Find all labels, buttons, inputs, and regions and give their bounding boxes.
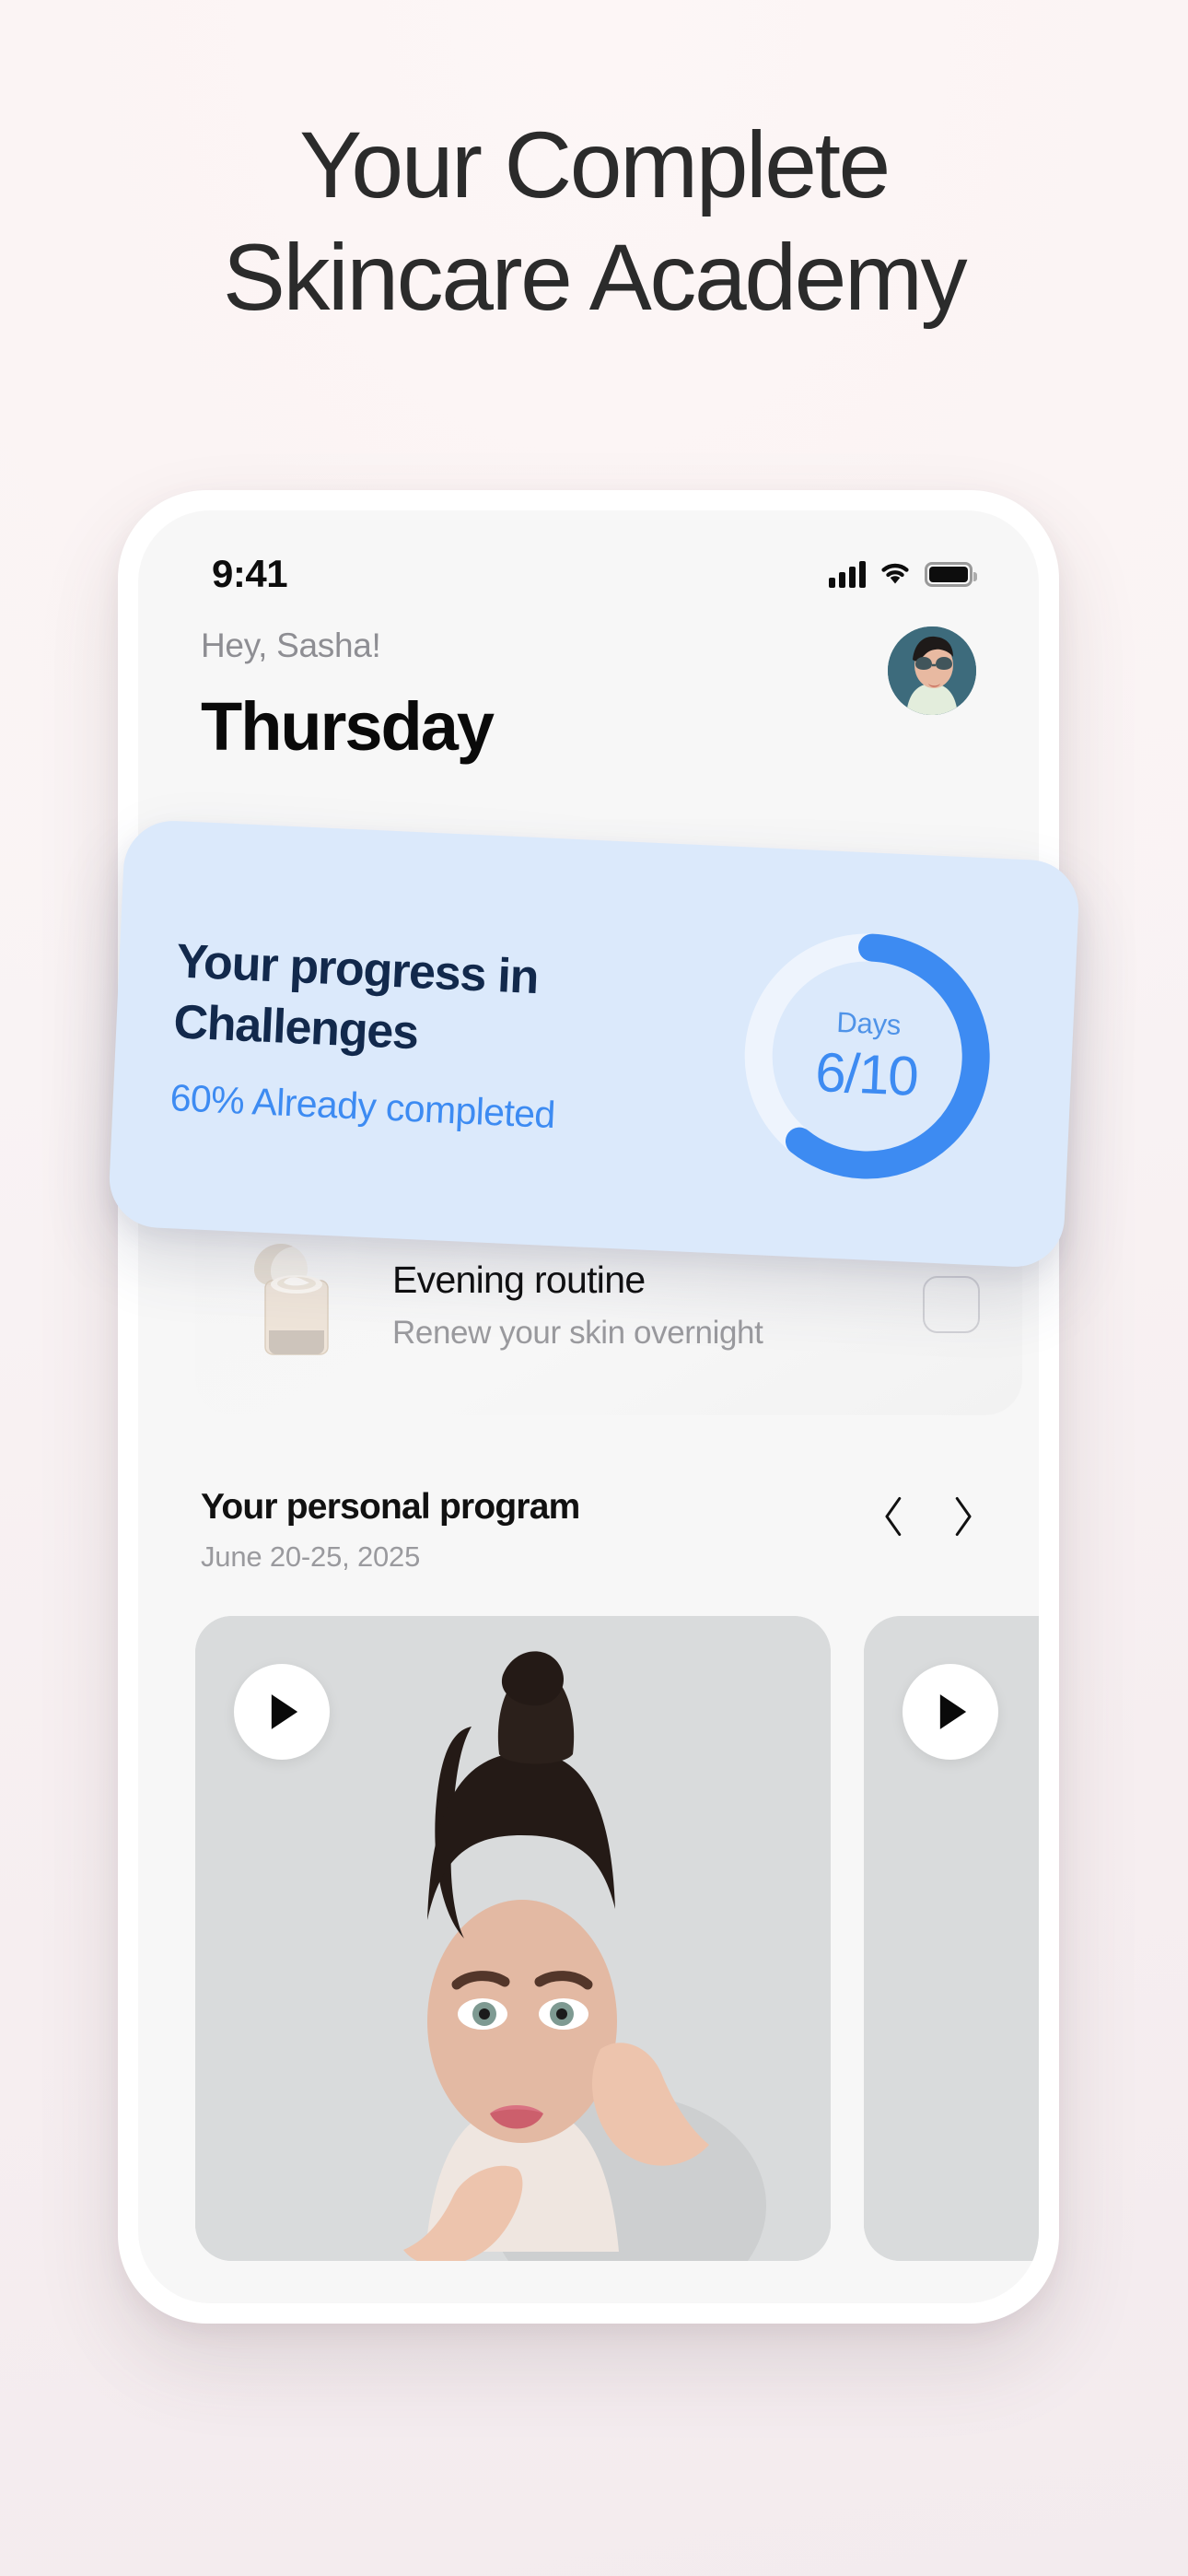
wifi-icon [879,559,912,590]
play-button-video-1[interactable] [234,1664,330,1760]
program-titles: Your personal program June 20-25, 2025 [201,1487,580,1574]
program-date-range: June 20-25, 2025 [201,1540,580,1574]
routine-checkbox-evening[interactable] [923,1276,980,1333]
hero-line-2: Skincare Academy [0,221,1188,334]
routine-name: Evening routine [392,1259,923,1302]
greeting-text: Hey, Sasha! [201,626,493,665]
video-carousel[interactable] [195,1616,1039,2261]
hero-line-1: Your Complete [0,109,1188,221]
status-bar-icons [829,559,973,590]
routine-subtitle: Renew your skin overnight [392,1315,923,1352]
routine-text-evening: Evening routine Renew your skin overnigh… [392,1259,923,1352]
video-card-2[interactable] [864,1616,1039,2261]
play-button-video-2[interactable] [903,1664,998,1760]
progress-card-heading: Your progress in Challenges [172,931,693,1075]
status-bar-time: 9:41 [212,552,287,596]
page-title: Thursday [201,687,493,766]
progress-ring-value: 6/10 [814,1039,919,1107]
video-card-1[interactable] [195,1616,831,2261]
carousel-arrows [875,1493,982,1540]
progress-ring-label: Days 6/10 [723,912,1011,1200]
signal-bars-icon [829,560,866,588]
program-section-title: Your personal program [201,1487,580,1528]
status-bar: 9:41 [138,510,1039,612]
progress-card-text: Your progress in Challenges 60% Already … [169,931,734,1144]
greeting-block: Hey, Sasha! Thursday [201,626,493,766]
phone-mockup: 9:41 Hey, Sasha! Thursday [118,490,1059,2324]
progress-card-subtitle: 60% Already completed [169,1076,728,1144]
cream-jar-image [227,1222,365,1388]
app-header: Hey, Sasha! Thursday [201,626,976,766]
avatar[interactable] [888,626,976,715]
progress-ring-days-label: Days [836,1005,902,1041]
hero-headline: Your Complete Skincare Academy [0,109,1188,334]
program-section-header: Your personal program June 20-25, 2025 [201,1487,982,1574]
progress-card[interactable]: Your progress in Challenges 60% Already … [108,819,1081,1270]
phone-screen: 9:41 Hey, Sasha! Thursday [138,510,1039,2303]
progress-ring: Days 6/10 [723,912,1011,1200]
carousel-next-button[interactable] [943,1493,982,1540]
carousel-prev-button[interactable] [875,1493,914,1540]
battery-icon [925,562,973,587]
